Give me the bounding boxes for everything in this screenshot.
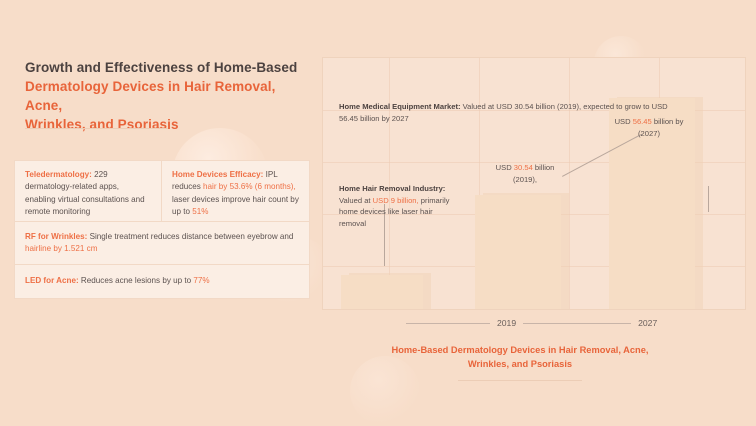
fact-body: Single treatment reduces distance betwee… bbox=[87, 232, 293, 241]
chart-caption: Home-Based Dermatology Devices in Hair R… bbox=[380, 344, 660, 372]
caption-line-2: Wrinkles, and Psoriasis bbox=[380, 358, 660, 372]
annotation-year: (2027) bbox=[579, 128, 719, 140]
axis-rule bbox=[523, 323, 631, 324]
caption-divider bbox=[458, 380, 582, 381]
annotation-value: 56.45 bbox=[633, 117, 652, 126]
fact-highlight-2: 51% bbox=[192, 207, 208, 216]
annotation-value: USD 9 billion, bbox=[373, 196, 419, 205]
annotation-year: (2019), bbox=[455, 174, 595, 186]
bar-2019[interactable] bbox=[475, 195, 561, 309]
annotation-suffix: billion by bbox=[652, 117, 684, 126]
title-line-3: Wrinkles, and Psoriasis bbox=[25, 115, 315, 134]
fact-led-for-acne: LED for Acne: Reduces acne lesions by up… bbox=[14, 265, 310, 299]
page-title: Growth and Effectiveness of Home-Based D… bbox=[25, 58, 315, 135]
annotation-value-2019: USD 30.54 billion (2019), bbox=[455, 162, 595, 185]
fact-highlight: hairline by 1.521 cm bbox=[25, 244, 97, 253]
title-divider bbox=[25, 128, 168, 129]
caption-line-1: Home-Based Dermatology Devices in Hair R… bbox=[380, 344, 660, 358]
fact-teledermatology: Teledermatology: 229 dermatology-related… bbox=[15, 161, 162, 221]
facts-row-1: Teledermatology: 229 dermatology-related… bbox=[14, 160, 310, 222]
annotation-prefix: USD bbox=[615, 117, 633, 126]
fact-label: Home Devices Efficacy: bbox=[172, 170, 263, 179]
annotation-label: Home Medical Equipment Market: bbox=[339, 102, 461, 111]
x-axis: 2019 2027 bbox=[322, 312, 746, 334]
fact-label: LED for Acne: bbox=[25, 276, 79, 285]
facts-card-group: Teledermatology: 229 dermatology-related… bbox=[14, 160, 310, 299]
annotation-text: Valued at bbox=[339, 196, 373, 205]
bar-chart-panel: Home Medical Equipment Market: Valued at… bbox=[322, 57, 746, 310]
axis-tick-2027: 2027 bbox=[631, 318, 664, 328]
annotation-value-2027: USD 56.45 billion by (2027) bbox=[579, 116, 719, 139]
fact-body: Reduces acne lesions by up to bbox=[79, 276, 194, 285]
fact-highlight: hair by 53.6% (6 months), bbox=[203, 182, 296, 191]
bar-home-hair-removal[interactable] bbox=[341, 275, 423, 309]
annotation-label: Home Hair Removal Industry: bbox=[339, 184, 445, 193]
title-line-2: Dermatology Devices in Hair Removal, Acn… bbox=[25, 77, 315, 115]
annotation-home-hair-removal-industry: Home Hair Removal Industry: Valued at US… bbox=[339, 183, 459, 229]
fact-home-devices-efficacy: Home Devices Efficacy: IPL reduces hair … bbox=[162, 161, 309, 221]
annotation-suffix: billion bbox=[533, 163, 555, 172]
fact-label: RF for Wrinkles: bbox=[25, 232, 87, 241]
fact-rf-for-wrinkles: RF for Wrinkles: Single treatment reduce… bbox=[14, 222, 310, 265]
axis-tick-2019: 2019 bbox=[490, 318, 523, 328]
infographic-canvas: Growth and Effectiveness of Home-Based D… bbox=[0, 0, 756, 420]
axis-rule bbox=[406, 323, 490, 324]
annotation-value: 30.54 bbox=[514, 163, 533, 172]
fact-highlight: 77% bbox=[193, 276, 209, 285]
leader-line-2027-tick bbox=[708, 186, 709, 212]
annotation-prefix: USD bbox=[496, 163, 514, 172]
title-line-1: Growth and Effectiveness of Home-Based bbox=[25, 58, 315, 77]
fact-label: Teledermatology: bbox=[25, 170, 92, 179]
